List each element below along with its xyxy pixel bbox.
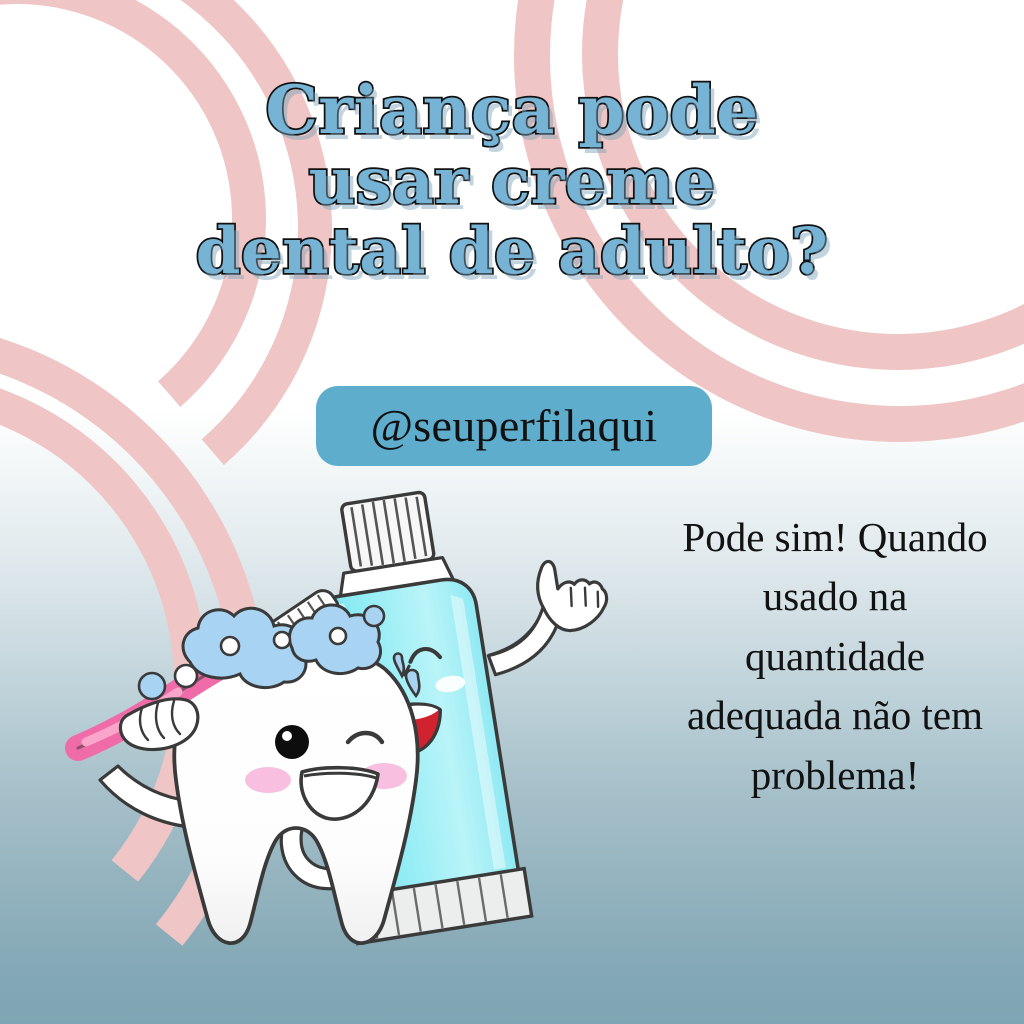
tooth-character <box>78 586 419 943</box>
answer-paragraph: Pode sim! Quando usado na quantidade ade… <box>670 508 1000 805</box>
social-handle-badge[interactable]: @seuperfilaqui <box>316 386 712 466</box>
headline: Criança pode usar creme dental de adulto… <box>0 78 1024 284</box>
headline-line-2: usar creme <box>0 151 1024 214</box>
poster-canvas: Criança pode usar creme dental de adulto… <box>0 0 1024 1024</box>
headline-line-1: Criança pode <box>0 78 1024 143</box>
illustration-tooth-and-toothpaste <box>30 480 670 980</box>
headline-line-3: dental de adulto? <box>0 221 1024 284</box>
tube-arm-right <box>475 553 616 675</box>
social-handle-text: @seuperfilaqui <box>371 403 658 449</box>
